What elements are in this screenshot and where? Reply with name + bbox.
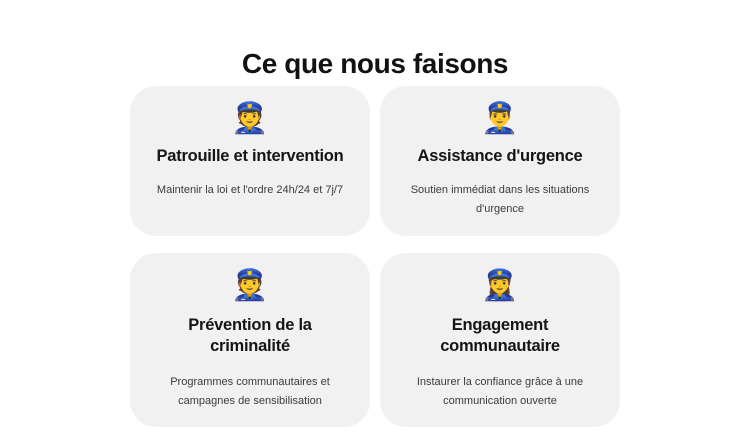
page-root: Ce que nous faisons 👮 Patrouille et inte… [0,0,750,432]
service-card-description: Maintenir la loi et l'ordre 24h/24 et 7j… [157,181,343,200]
service-card-title: Patrouille et intervention [157,146,344,167]
police-officer-patrol-icon: 👮 [231,267,268,305]
service-card-title: Engagement communautaire [415,315,585,357]
page-title: Ce que nous faisons [0,47,750,81]
service-card-patrouille[interactable]: 👮 Patrouille et intervention Maintenir l… [130,86,370,236]
services-card-grid: 👮 Patrouille et intervention Maintenir l… [130,86,620,427]
service-card-prevention-criminalite[interactable]: 👮 Prévention de la criminalité Programme… [130,253,370,428]
service-card-assistance-urgence[interactable]: 👮‍♂️ Assistance d'urgence Soutien immédi… [380,86,620,236]
service-card-description: Soutien immédiat dans les situations d'u… [398,181,602,220]
police-officer-woman-icon: 👮‍♀️ [481,267,518,305]
police-officer-icon: 👮 [231,100,268,138]
service-card-description: Instaurer la confiance grâce à une commu… [400,373,600,412]
service-card-description: Programmes communautaires et campagnes d… [150,373,350,412]
service-card-title: Assistance d'urgence [418,146,583,167]
service-card-engagement-communautaire[interactable]: 👮‍♀️ Engagement communautaire Instaurer … [380,253,620,428]
service-card-title: Prévention de la criminalité [165,315,335,357]
police-officer-shield-icon: 👮‍♂️ [481,100,518,138]
